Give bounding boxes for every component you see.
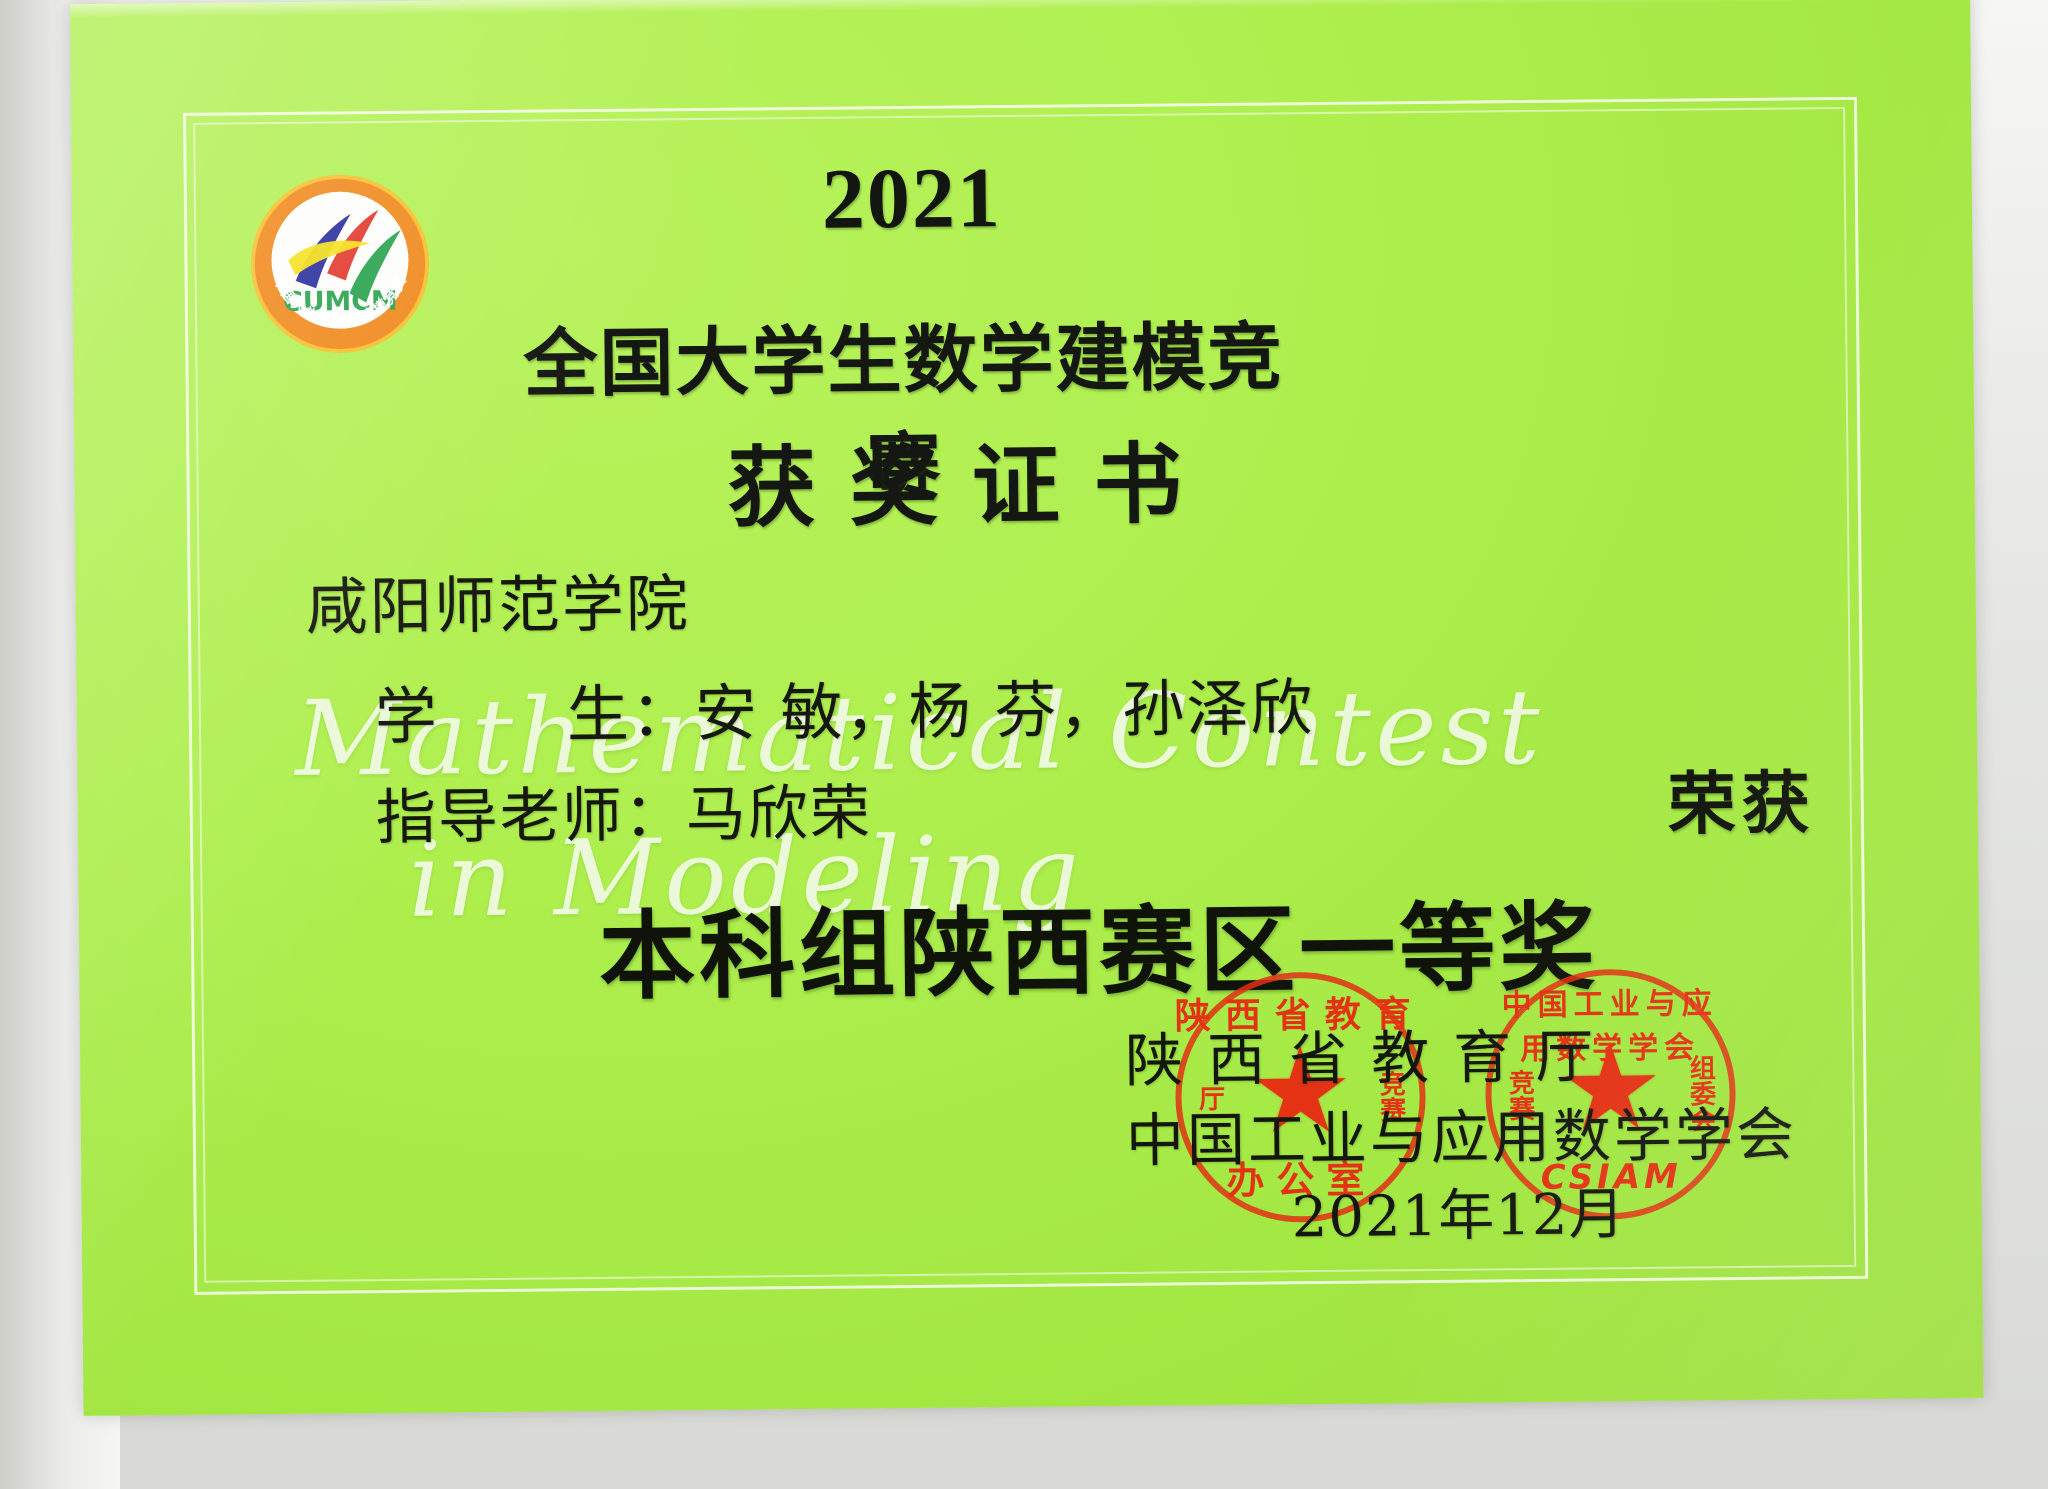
issuer-line-2: 中国工业与应用数学学会 (1126, 1087, 1798, 1177)
certificate-year: 2021 (711, 146, 1112, 250)
cumcm-logo: CUMCM 中国大学生数学建模竞赛 (247, 171, 434, 358)
advisor-line: 指导老师：马欣荣 (375, 764, 872, 856)
award-name: 本科组陕西赛区一等奖 (598, 869, 1599, 1018)
sheet-top-bevel (70, 0, 1970, 18)
certificate-sheet: Mathematical Contest in Modeling CUMCM 中… (70, 0, 1983, 1416)
issue-date: 2021年12月 (1291, 1169, 1626, 1253)
students-line: 学 生：安 敏，杨 芬，孙泽欣 (374, 657, 1314, 756)
issuer-line-1: 陕西省教育厅 (1125, 1009, 1618, 1098)
certificate-photo: Mathematical Contest in Modeling CUMCM 中… (0, 0, 2048, 1489)
award-verb: 荣获 (1667, 747, 1816, 847)
school-name: 咸阳师范学院 (305, 553, 690, 647)
document-title: 获奖证书 (674, 413, 1235, 545)
